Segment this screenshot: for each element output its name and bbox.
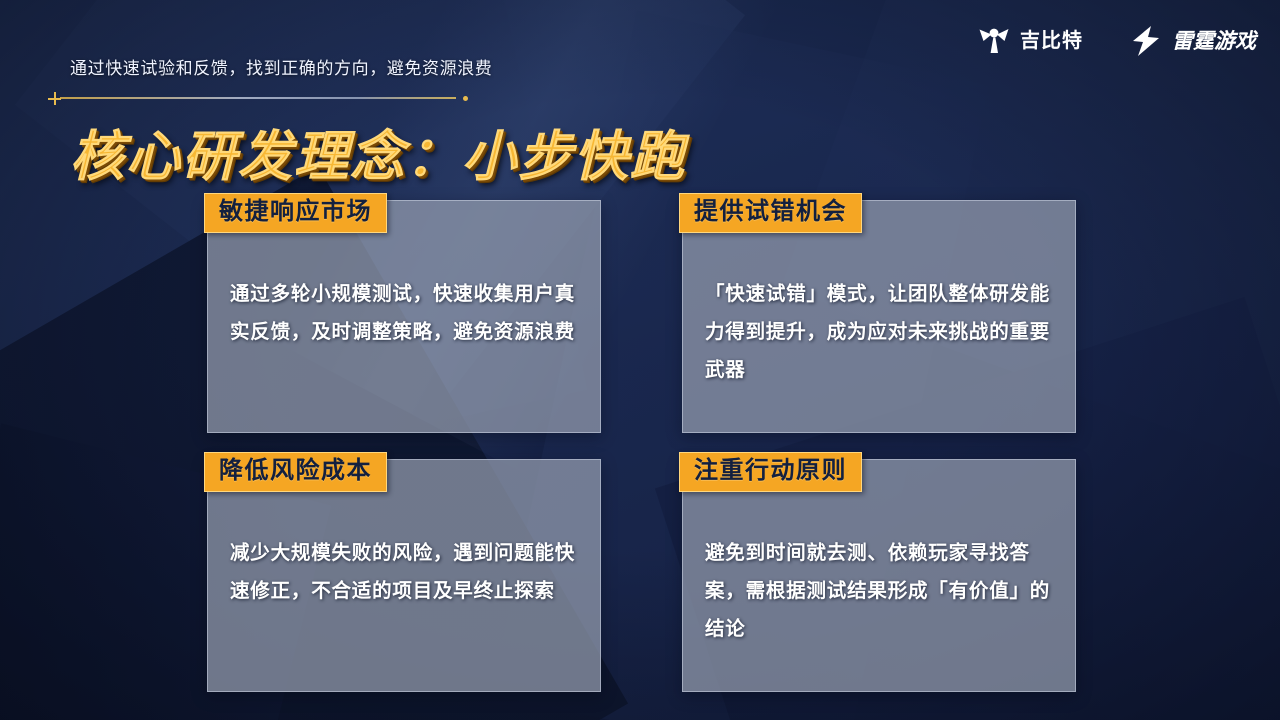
- title-divider: [48, 92, 468, 104]
- slide-root: 吉比特 雷霆游戏 通过快速试验和反馈，找到正确的方向，避免资源浪费 核心研发理念…: [0, 0, 1280, 720]
- slide-subtitle: 通过快速试验和反馈，找到正确的方向，避免资源浪费: [70, 54, 492, 79]
- brand-logo-group: 吉比特 雷霆游戏: [977, 24, 1256, 58]
- angel-wings-icon: [977, 24, 1011, 58]
- card-agile-market: 敏捷响应市场 通过多轮小规模测试，快速收集用户真实反馈，及时调整策略，避免资源浪…: [207, 200, 601, 433]
- card-grid: 敏捷响应市场 通过多轮小规模测试，快速收集用户真实反馈，及时调整策略，避免资源浪…: [207, 200, 1076, 692]
- card-heading-tab: 提供试错机会: [679, 193, 862, 233]
- logo-jibite: 吉比特: [977, 24, 1083, 58]
- divider-line: [60, 97, 456, 99]
- card-heading-label: 提供试错机会: [694, 198, 847, 225]
- logo-leiting-label: 雷霆游戏: [1172, 31, 1256, 52]
- card-lower-risk: 降低风险成本 减少大规模失败的风险，遇到问题能快速修正，不合适的项目及早终止探索: [207, 459, 601, 692]
- card-trial-error: 提供试错机会 「快速试错」模式，让团队整体研发能力得到提升，成为应对未来挑战的重…: [682, 200, 1076, 433]
- card-body-text: 「快速试错」模式，让团队整体研发能力得到提升，成为应对未来挑战的重要武器: [705, 275, 1059, 389]
- page-title: 核心研发理念：小步快跑: [70, 112, 686, 191]
- card-body-text: 避免到时间就去测、依赖玩家寻找答案，需根据测试结果形成「有价值」的结论: [705, 534, 1059, 648]
- divider-end-dot-icon: [463, 96, 468, 101]
- card-body-text: 通过多轮小规模测试，快速收集用户真实反馈，及时调整策略，避免资源浪费: [230, 275, 584, 351]
- card-heading-label: 降低风险成本: [219, 457, 372, 484]
- card-heading-tab: 降低风险成本: [204, 452, 387, 492]
- card-body-text: 减少大规模失败的风险，遇到问题能快速修正，不合适的项目及早终止探索: [230, 534, 584, 610]
- lightning-bolt-icon: [1129, 24, 1163, 58]
- card-heading-label: 注重行动原则: [694, 457, 847, 484]
- logo-leiting: 雷霆游戏: [1129, 24, 1256, 58]
- card-action-principle: 注重行动原则 避免到时间就去测、依赖玩家寻找答案，需根据测试结果形成「有价值」的…: [682, 459, 1076, 692]
- card-heading-tab: 注重行动原则: [679, 452, 862, 492]
- card-heading-label: 敏捷响应市场: [219, 198, 372, 225]
- card-heading-tab: 敏捷响应市场: [204, 193, 387, 233]
- logo-jibite-label: 吉比特: [1020, 31, 1083, 51]
